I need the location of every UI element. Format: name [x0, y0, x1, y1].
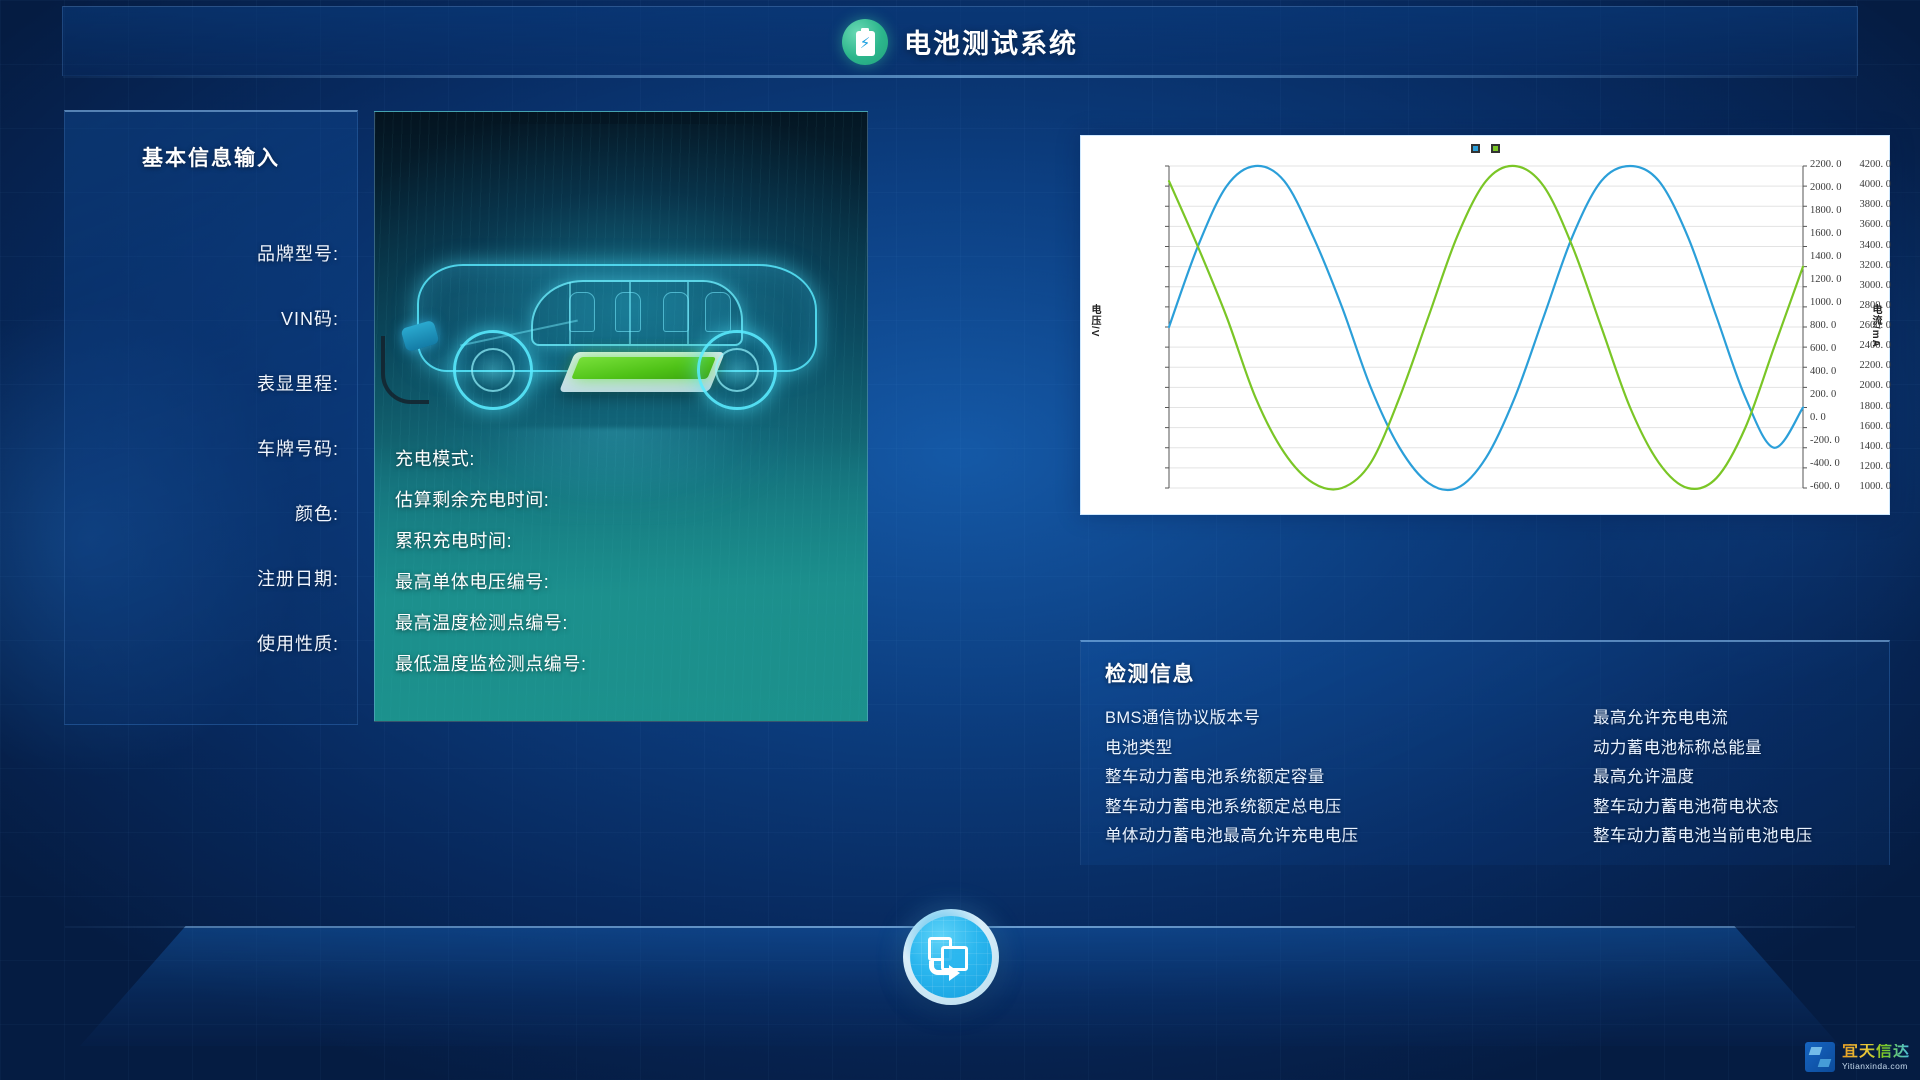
sync-action-button[interactable]: [903, 909, 999, 1005]
detection-info-right-column: 最高允许充电电流 动力蓄电池标称总能量 最高允许温度 整车动力蓄电池荷电状态 整…: [1485, 704, 1865, 852]
y-axis-right-tick: 600. 0: [1810, 343, 1836, 354]
field-label: 充电模式:: [395, 445, 475, 471]
field-row-charge-mode[interactable]: 充电模式:: [395, 437, 587, 478]
list-item[interactable]: 整车动力蓄电池当前电池电压: [1593, 822, 1865, 852]
field-label: 颜色:: [295, 500, 339, 526]
field-row-estimated-remaining-time[interactable]: 估算剩余充电时间:: [395, 478, 587, 519]
field-label: 累积充电时间:: [395, 527, 512, 553]
y-axis-right-tick: 1200. 0: [1810, 274, 1842, 285]
field-row-brand-model[interactable]: 品牌型号:: [65, 220, 357, 285]
y-axis-right-tick: 2000. 0: [1810, 182, 1842, 193]
chart-series-line: [1169, 166, 1803, 490]
vehicle-charging-panel: 充电模式: 估算剩余充电时间: 累积充电时间: 最高单体电压编号: 最高温度检测…: [374, 111, 868, 722]
list-item[interactable]: 整车动力蓄电池系统额定总电压: [1105, 793, 1485, 823]
list-item[interactable]: 电池类型: [1105, 734, 1485, 764]
field-label: 品牌型号:: [257, 240, 339, 266]
y-axis-right-tick: 200. 0: [1810, 389, 1836, 400]
watermark: 宜天信达 Yitianxinda.com: [1805, 1042, 1910, 1072]
list-item[interactable]: BMS通信协议版本号: [1105, 704, 1485, 734]
field-label: 最高温度检测点编号:: [395, 609, 568, 635]
y-axis-right-tick: 1000. 0: [1810, 297, 1842, 308]
field-row-vin[interactable]: VIN码:: [65, 285, 357, 350]
list-item[interactable]: 单体动力蓄电池最高允许充电电压: [1105, 822, 1485, 852]
field-row-max-cell-voltage-number[interactable]: 最高单体电压编号:: [395, 560, 587, 601]
field-row-usage-type[interactable]: 使用性质:: [65, 610, 357, 675]
list-item[interactable]: 最高允许充电电流: [1593, 704, 1865, 734]
battery-bolt-icon: ⚡: [842, 19, 888, 65]
y-axis-left-tick: 1800. 0: [1809, 401, 1891, 412]
field-label: 车牌号码:: [257, 435, 339, 461]
field-row-accumulated-charge-time[interactable]: 累积充电时间:: [395, 519, 587, 560]
field-label: 最高单体电压编号:: [395, 568, 549, 594]
field-label: 最低温度监检测点编号:: [395, 650, 587, 676]
field-label: 注册日期:: [257, 565, 339, 591]
field-label: 使用性质:: [257, 630, 339, 656]
y-axis-right-tick: -200. 0: [1810, 435, 1840, 446]
field-row-max-temp-probe-number[interactable]: 最高温度检测点编号:: [395, 601, 587, 642]
sync-transfer-icon: [928, 935, 974, 979]
watermark-en-text: Yitianxinda.com: [1842, 1062, 1910, 1071]
watermark-cn-text: 宜天信达: [1842, 1044, 1910, 1060]
detection-info-title: 检测信息: [1105, 658, 1865, 688]
app-header: ⚡ 电池测试系统: [62, 6, 1858, 76]
y-axis-right-tick: 1600. 0: [1810, 228, 1842, 239]
voltage-current-chart[interactable]: 电压/V 电流/mA 4200. 04000. 03800. 03600. 03…: [1080, 135, 1890, 515]
y-axis-right-tick: -600. 0: [1810, 481, 1840, 492]
field-label: 估算剩余充电时间:: [395, 486, 549, 512]
field-label: 表显里程:: [257, 370, 339, 396]
watermark-logo-icon: [1805, 1042, 1835, 1072]
y-axis-right-tick: 1800. 0: [1810, 205, 1842, 216]
electric-vehicle-illustration: [381, 204, 861, 444]
y-axis-right-tick: -400. 0: [1810, 458, 1840, 469]
field-label: VIN码:: [281, 305, 339, 331]
y-axis-right-tick: 2200. 0: [1810, 159, 1842, 170]
y-axis-left-tick: 3400. 0: [1809, 240, 1891, 251]
basic-info-title: 基本信息输入: [65, 142, 357, 172]
field-row-plate-number[interactable]: 车牌号码:: [65, 415, 357, 480]
field-row-min-temp-probe-number[interactable]: 最低温度监检测点编号:: [395, 642, 587, 683]
list-item[interactable]: 整车动力蓄电池系统额定容量: [1105, 763, 1485, 793]
list-item[interactable]: 最高允许温度: [1593, 763, 1865, 793]
y-axis-right-tick: 0. 0: [1810, 412, 1826, 423]
page-title: 电池测试系统: [904, 22, 1078, 61]
detection-info-left-column: BMS通信协议版本号 电池类型 整车动力蓄电池系统额定容量 整车动力蓄电池系统额…: [1105, 704, 1485, 852]
y-axis-right-tick: 800. 0: [1810, 320, 1836, 331]
basic-info-panel: 基本信息输入 品牌型号: VIN码: 表显里程: 车牌号码: 颜色: 注册日期:…: [64, 110, 358, 725]
y-axis-right-tick: 1400. 0: [1810, 251, 1842, 262]
detection-info-panel: 检测信息 BMS通信协议版本号 电池类型 整车动力蓄电池系统额定容量 整车动力蓄…: [1080, 640, 1890, 865]
chart-plot-area: 4200. 04000. 03800. 03600. 03400. 03200.…: [1081, 136, 1891, 516]
list-item[interactable]: 整车动力蓄电池荷电状态: [1593, 793, 1865, 823]
basic-info-field-list: 品牌型号: VIN码: 表显里程: 车牌号码: 颜色: 注册日期: 使用性质:: [65, 220, 357, 675]
list-item[interactable]: 动力蓄电池标称总能量: [1593, 734, 1865, 764]
field-row-color[interactable]: 颜色:: [65, 480, 357, 545]
charging-field-list: 充电模式: 估算剩余充电时间: 累积充电时间: 最高单体电压编号: 最高温度检测…: [395, 437, 587, 683]
y-axis-right-tick: 400. 0: [1810, 366, 1836, 377]
chart-series-line: [1169, 166, 1803, 490]
field-row-register-date[interactable]: 注册日期:: [65, 545, 357, 610]
field-row-mileage[interactable]: 表显里程:: [65, 350, 357, 415]
